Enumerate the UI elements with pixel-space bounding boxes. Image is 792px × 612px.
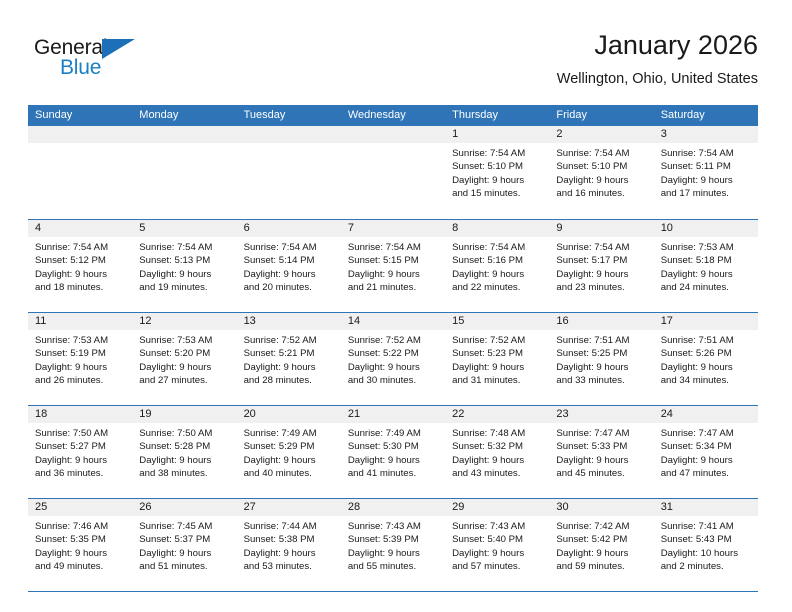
calendar-page: General Blue January 2026 Wellington, Oh… — [0, 0, 792, 612]
day-details: Sunrise: 7:54 AMSunset: 5:17 PMDaylight:… — [549, 237, 653, 295]
sunset-text: Sunset: 5:14 PM — [244, 254, 335, 267]
daylight-text-line1: Daylight: 10 hours — [661, 547, 752, 560]
day-details: Sunrise: 7:49 AMSunset: 5:29 PMDaylight:… — [237, 423, 341, 481]
sunset-text: Sunset: 5:21 PM — [244, 347, 335, 360]
sunset-text: Sunset: 5:16 PM — [452, 254, 543, 267]
sunrise-text: Sunrise: 7:54 AM — [452, 147, 543, 160]
daylight-text-line2: and 21 minutes. — [348, 281, 439, 294]
day-number: 25 — [28, 499, 132, 516]
day-number: 6 — [237, 220, 341, 237]
day-details: Sunrise: 7:54 AMSunset: 5:11 PMDaylight:… — [654, 143, 758, 201]
day-cell[interactable]: 10Sunrise: 7:53 AMSunset: 5:18 PMDayligh… — [654, 220, 758, 312]
day-cell[interactable]: 7Sunrise: 7:54 AMSunset: 5:15 PMDaylight… — [341, 220, 445, 312]
day-details: Sunrise: 7:52 AMSunset: 5:22 PMDaylight:… — [341, 330, 445, 388]
day-number: 23 — [549, 406, 653, 423]
sunset-text: Sunset: 5:43 PM — [661, 533, 752, 546]
day-details: Sunrise: 7:54 AMSunset: 5:15 PMDaylight:… — [341, 237, 445, 295]
day-cell[interactable]: 19Sunrise: 7:50 AMSunset: 5:28 PMDayligh… — [132, 406, 236, 498]
day-number: 26 — [132, 499, 236, 516]
sunset-text: Sunset: 5:19 PM — [35, 347, 126, 360]
day-number: 10 — [654, 220, 758, 237]
day-cell[interactable]: 22Sunrise: 7:48 AMSunset: 5:32 PMDayligh… — [445, 406, 549, 498]
day-cell[interactable]: 4Sunrise: 7:54 AMSunset: 5:12 PMDaylight… — [28, 220, 132, 312]
day-details: Sunrise: 7:45 AMSunset: 5:37 PMDaylight:… — [132, 516, 236, 574]
week-row: 11Sunrise: 7:53 AMSunset: 5:19 PMDayligh… — [28, 312, 758, 405]
sunset-text: Sunset: 5:10 PM — [556, 160, 647, 173]
weekday-header-monday: Monday — [132, 105, 236, 126]
daylight-text-line2: and 59 minutes. — [556, 560, 647, 573]
day-cell[interactable]: 13Sunrise: 7:52 AMSunset: 5:21 PMDayligh… — [237, 313, 341, 405]
sunrise-text: Sunrise: 7:51 AM — [661, 334, 752, 347]
weekday-header-sunday: Sunday — [28, 105, 132, 126]
day-cell[interactable]: 14Sunrise: 7:52 AMSunset: 5:22 PMDayligh… — [341, 313, 445, 405]
daylight-text-line1: Daylight: 9 hours — [348, 268, 439, 281]
day-details: Sunrise: 7:52 AMSunset: 5:23 PMDaylight:… — [445, 330, 549, 388]
daylight-text-line2: and 18 minutes. — [35, 281, 126, 294]
weekday-header-friday: Friday — [549, 105, 653, 126]
day-details: Sunrise: 7:54 AMSunset: 5:10 PMDaylight:… — [549, 143, 653, 201]
day-cell[interactable]: 26Sunrise: 7:45 AMSunset: 5:37 PMDayligh… — [132, 499, 236, 591]
day-number — [28, 126, 132, 143]
weeks-container: 1Sunrise: 7:54 AMSunset: 5:10 PMDaylight… — [28, 126, 758, 591]
sunset-text: Sunset: 5:26 PM — [661, 347, 752, 360]
day-cell[interactable]: 27Sunrise: 7:44 AMSunset: 5:38 PMDayligh… — [237, 499, 341, 591]
daylight-text-line1: Daylight: 9 hours — [452, 454, 543, 467]
daylight-text-line2: and 22 minutes. — [452, 281, 543, 294]
daylight-text-line2: and 43 minutes. — [452, 467, 543, 480]
sunrise-text: Sunrise: 7:42 AM — [556, 520, 647, 533]
day-cell[interactable]: 18Sunrise: 7:50 AMSunset: 5:27 PMDayligh… — [28, 406, 132, 498]
sunset-text: Sunset: 5:23 PM — [452, 347, 543, 360]
day-cell[interactable]: 3Sunrise: 7:54 AMSunset: 5:11 PMDaylight… — [654, 126, 758, 219]
daylight-text-line1: Daylight: 9 hours — [452, 547, 543, 560]
daylight-text-line1: Daylight: 9 hours — [244, 547, 335, 560]
daylight-text-line2: and 36 minutes. — [35, 467, 126, 480]
day-details: Sunrise: 7:54 AMSunset: 5:13 PMDaylight:… — [132, 237, 236, 295]
sunrise-text: Sunrise: 7:47 AM — [556, 427, 647, 440]
day-cell[interactable]: 20Sunrise: 7:49 AMSunset: 5:29 PMDayligh… — [237, 406, 341, 498]
sunrise-text: Sunrise: 7:54 AM — [244, 241, 335, 254]
daylight-text-line2: and 47 minutes. — [661, 467, 752, 480]
sunset-text: Sunset: 5:20 PM — [139, 347, 230, 360]
daylight-text-line1: Daylight: 9 hours — [139, 361, 230, 374]
day-details: Sunrise: 7:51 AMSunset: 5:26 PMDaylight:… — [654, 330, 758, 388]
title-block: January 2026 Wellington, Ohio, United St… — [557, 28, 758, 90]
daylight-text-line2: and 57 minutes. — [452, 560, 543, 573]
page-title: January 2026 — [557, 28, 758, 62]
weekday-header-row: Sunday Monday Tuesday Wednesday Thursday… — [28, 105, 758, 126]
sunrise-text: Sunrise: 7:52 AM — [452, 334, 543, 347]
grid-bottom-rule — [28, 591, 758, 592]
sunrise-text: Sunrise: 7:49 AM — [348, 427, 439, 440]
sunrise-text: Sunrise: 7:53 AM — [35, 334, 126, 347]
day-number: 18 — [28, 406, 132, 423]
day-details: Sunrise: 7:43 AMSunset: 5:40 PMDaylight:… — [445, 516, 549, 574]
sunrise-text: Sunrise: 7:43 AM — [348, 520, 439, 533]
sunrise-text: Sunrise: 7:50 AM — [35, 427, 126, 440]
triangle-icon — [102, 39, 135, 59]
general-blue-logo[interactable]: General Blue — [34, 36, 164, 88]
daylight-text-line2: and 19 minutes. — [139, 281, 230, 294]
day-number: 28 — [341, 499, 445, 516]
day-cell-empty — [237, 126, 341, 219]
day-details: Sunrise: 7:43 AMSunset: 5:39 PMDaylight:… — [341, 516, 445, 574]
day-cell[interactable]: 2Sunrise: 7:54 AMSunset: 5:10 PMDaylight… — [549, 126, 653, 219]
day-number: 24 — [654, 406, 758, 423]
daylight-text-line1: Daylight: 9 hours — [139, 547, 230, 560]
day-number: 14 — [341, 313, 445, 330]
sunset-text: Sunset: 5:10 PM — [452, 160, 543, 173]
day-details: Sunrise: 7:53 AMSunset: 5:19 PMDaylight:… — [28, 330, 132, 388]
sunset-text: Sunset: 5:42 PM — [556, 533, 647, 546]
daylight-text-line2: and 33 minutes. — [556, 374, 647, 387]
day-number: 30 — [549, 499, 653, 516]
day-details: Sunrise: 7:54 AMSunset: 5:12 PMDaylight:… — [28, 237, 132, 295]
day-number — [341, 126, 445, 143]
sunset-text: Sunset: 5:12 PM — [35, 254, 126, 267]
day-number: 12 — [132, 313, 236, 330]
sunrise-text: Sunrise: 7:46 AM — [35, 520, 126, 533]
day-cell[interactable]: 28Sunrise: 7:43 AMSunset: 5:39 PMDayligh… — [341, 499, 445, 591]
week-row: 25Sunrise: 7:46 AMSunset: 5:35 PMDayligh… — [28, 498, 758, 591]
day-cell[interactable]: 15Sunrise: 7:52 AMSunset: 5:23 PMDayligh… — [445, 313, 549, 405]
day-cell-empty — [341, 126, 445, 219]
daylight-text-line1: Daylight: 9 hours — [244, 268, 335, 281]
day-details: Sunrise: 7:42 AMSunset: 5:42 PMDaylight:… — [549, 516, 653, 574]
day-number: 11 — [28, 313, 132, 330]
daylight-text-line1: Daylight: 9 hours — [661, 454, 752, 467]
sunrise-text: Sunrise: 7:54 AM — [452, 241, 543, 254]
sunrise-text: Sunrise: 7:54 AM — [556, 147, 647, 160]
sunrise-text: Sunrise: 7:44 AM — [244, 520, 335, 533]
sunrise-text: Sunrise: 7:53 AM — [139, 334, 230, 347]
sunrise-text: Sunrise: 7:45 AM — [139, 520, 230, 533]
sunset-text: Sunset: 5:34 PM — [661, 440, 752, 453]
day-details: Sunrise: 7:47 AMSunset: 5:33 PMDaylight:… — [549, 423, 653, 481]
daylight-text-line1: Daylight: 9 hours — [139, 268, 230, 281]
day-details: Sunrise: 7:51 AMSunset: 5:25 PMDaylight:… — [549, 330, 653, 388]
day-number: 5 — [132, 220, 236, 237]
sunset-text: Sunset: 5:33 PM — [556, 440, 647, 453]
sunrise-text: Sunrise: 7:54 AM — [35, 241, 126, 254]
sunset-text: Sunset: 5:25 PM — [556, 347, 647, 360]
day-cell[interactable]: 16Sunrise: 7:51 AMSunset: 5:25 PMDayligh… — [549, 313, 653, 405]
day-number: 20 — [237, 406, 341, 423]
daylight-text-line1: Daylight: 9 hours — [556, 454, 647, 467]
day-number: 1 — [445, 126, 549, 143]
sunset-text: Sunset: 5:17 PM — [556, 254, 647, 267]
day-details: Sunrise: 7:54 AMSunset: 5:16 PMDaylight:… — [445, 237, 549, 295]
daylight-text-line1: Daylight: 9 hours — [348, 547, 439, 560]
weekday-header-tuesday: Tuesday — [237, 105, 341, 126]
sunset-text: Sunset: 5:38 PM — [244, 533, 335, 546]
day-number — [237, 126, 341, 143]
day-cell[interactable]: 11Sunrise: 7:53 AMSunset: 5:19 PMDayligh… — [28, 313, 132, 405]
sunrise-text: Sunrise: 7:49 AM — [244, 427, 335, 440]
daylight-text-line1: Daylight: 9 hours — [661, 361, 752, 374]
day-details: Sunrise: 7:49 AMSunset: 5:30 PMDaylight:… — [341, 423, 445, 481]
daylight-text-line2: and 20 minutes. — [244, 281, 335, 294]
day-cell[interactable]: 9Sunrise: 7:54 AMSunset: 5:17 PMDaylight… — [549, 220, 653, 312]
day-number: 17 — [654, 313, 758, 330]
daylight-text-line2: and 55 minutes. — [348, 560, 439, 573]
sunset-text: Sunset: 5:37 PM — [139, 533, 230, 546]
daylight-text-line2: and 28 minutes. — [244, 374, 335, 387]
sunrise-text: Sunrise: 7:54 AM — [348, 241, 439, 254]
daylight-text-line1: Daylight: 9 hours — [556, 361, 647, 374]
sunset-text: Sunset: 5:32 PM — [452, 440, 543, 453]
daylight-text-line2: and 34 minutes. — [661, 374, 752, 387]
sunrise-text: Sunrise: 7:41 AM — [661, 520, 752, 533]
daylight-text-line1: Daylight: 9 hours — [244, 454, 335, 467]
weekday-header-wednesday: Wednesday — [341, 105, 445, 126]
daylight-text-line1: Daylight: 9 hours — [35, 547, 126, 560]
page-subtitle: Wellington, Ohio, United States — [557, 68, 758, 90]
sunset-text: Sunset: 5:15 PM — [348, 254, 439, 267]
sunrise-text: Sunrise: 7:50 AM — [139, 427, 230, 440]
daylight-text-line1: Daylight: 9 hours — [348, 361, 439, 374]
day-details: Sunrise: 7:54 AMSunset: 5:10 PMDaylight:… — [445, 143, 549, 201]
sunset-text: Sunset: 5:35 PM — [35, 533, 126, 546]
sunrise-text: Sunrise: 7:54 AM — [556, 241, 647, 254]
weekday-header-thursday: Thursday — [445, 105, 549, 126]
daylight-text-line1: Daylight: 9 hours — [556, 174, 647, 187]
daylight-text-line2: and 38 minutes. — [139, 467, 230, 480]
daylight-text-line2: and 2 minutes. — [661, 560, 752, 573]
daylight-text-line2: and 53 minutes. — [244, 560, 335, 573]
daylight-text-line2: and 31 minutes. — [452, 374, 543, 387]
daylight-text-line2: and 30 minutes. — [348, 374, 439, 387]
daylight-text-line2: and 27 minutes. — [139, 374, 230, 387]
page-header: General Blue January 2026 Wellington, Oh… — [28, 28, 758, 98]
day-cell[interactable]: 21Sunrise: 7:49 AMSunset: 5:30 PMDayligh… — [341, 406, 445, 498]
sunset-text: Sunset: 5:29 PM — [244, 440, 335, 453]
day-details: Sunrise: 7:48 AMSunset: 5:32 PMDaylight:… — [445, 423, 549, 481]
day-number: 4 — [28, 220, 132, 237]
daylight-text-line2: and 17 minutes. — [661, 187, 752, 200]
sunrise-text: Sunrise: 7:54 AM — [139, 241, 230, 254]
sunset-text: Sunset: 5:22 PM — [348, 347, 439, 360]
sunrise-text: Sunrise: 7:48 AM — [452, 427, 543, 440]
sunrise-text: Sunrise: 7:47 AM — [661, 427, 752, 440]
day-number: 21 — [341, 406, 445, 423]
week-row: 4Sunrise: 7:54 AMSunset: 5:12 PMDaylight… — [28, 219, 758, 312]
week-row: 1Sunrise: 7:54 AMSunset: 5:10 PMDaylight… — [28, 126, 758, 219]
sunset-text: Sunset: 5:28 PM — [139, 440, 230, 453]
day-cell[interactable]: 17Sunrise: 7:51 AMSunset: 5:26 PMDayligh… — [654, 313, 758, 405]
day-number — [132, 126, 236, 143]
day-cell[interactable]: 6Sunrise: 7:54 AMSunset: 5:14 PMDaylight… — [237, 220, 341, 312]
daylight-text-line1: Daylight: 9 hours — [661, 174, 752, 187]
day-cell[interactable]: 23Sunrise: 7:47 AMSunset: 5:33 PMDayligh… — [549, 406, 653, 498]
sunset-text: Sunset: 5:18 PM — [661, 254, 752, 267]
daylight-text-line2: and 24 minutes. — [661, 281, 752, 294]
day-number: 3 — [654, 126, 758, 143]
sunset-text: Sunset: 5:39 PM — [348, 533, 439, 546]
sunrise-text: Sunrise: 7:52 AM — [244, 334, 335, 347]
sunset-text: Sunset: 5:13 PM — [139, 254, 230, 267]
day-cell[interactable]: 5Sunrise: 7:54 AMSunset: 5:13 PMDaylight… — [132, 220, 236, 312]
day-number: 7 — [341, 220, 445, 237]
day-details: Sunrise: 7:46 AMSunset: 5:35 PMDaylight:… — [28, 516, 132, 574]
day-number: 31 — [654, 499, 758, 516]
calendar-grid: Sunday Monday Tuesday Wednesday Thursday… — [28, 105, 758, 592]
day-number: 22 — [445, 406, 549, 423]
day-cell[interactable]: 1Sunrise: 7:54 AMSunset: 5:10 PMDaylight… — [445, 126, 549, 219]
day-cell[interactable]: 8Sunrise: 7:54 AMSunset: 5:16 PMDaylight… — [445, 220, 549, 312]
daylight-text-line1: Daylight: 9 hours — [139, 454, 230, 467]
day-details: Sunrise: 7:41 AMSunset: 5:43 PMDaylight:… — [654, 516, 758, 574]
day-cell[interactable]: 12Sunrise: 7:53 AMSunset: 5:20 PMDayligh… — [132, 313, 236, 405]
daylight-text-line1: Daylight: 9 hours — [661, 268, 752, 281]
day-number: 2 — [549, 126, 653, 143]
day-cell[interactable]: 29Sunrise: 7:43 AMSunset: 5:40 PMDayligh… — [445, 499, 549, 591]
daylight-text-line2: and 51 minutes. — [139, 560, 230, 573]
day-number: 16 — [549, 313, 653, 330]
logo-text-blue: Blue — [60, 56, 101, 80]
sunset-text: Sunset: 5:11 PM — [661, 160, 752, 173]
sunrise-text: Sunrise: 7:51 AM — [556, 334, 647, 347]
day-cell-empty — [132, 126, 236, 219]
day-number: 13 — [237, 313, 341, 330]
day-cell[interactable]: 24Sunrise: 7:47 AMSunset: 5:34 PMDayligh… — [654, 406, 758, 498]
daylight-text-line1: Daylight: 9 hours — [244, 361, 335, 374]
day-number: 9 — [549, 220, 653, 237]
daylight-text-line2: and 26 minutes. — [35, 374, 126, 387]
day-number: 15 — [445, 313, 549, 330]
day-cell[interactable]: 31Sunrise: 7:41 AMSunset: 5:43 PMDayligh… — [654, 499, 758, 591]
sunset-text: Sunset: 5:40 PM — [452, 533, 543, 546]
daylight-text-line2: and 45 minutes. — [556, 467, 647, 480]
daylight-text-line1: Daylight: 9 hours — [556, 547, 647, 560]
daylight-text-line1: Daylight: 9 hours — [452, 268, 543, 281]
daylight-text-line2: and 49 minutes. — [35, 560, 126, 573]
daylight-text-line1: Daylight: 9 hours — [35, 268, 126, 281]
weekday-header-saturday: Saturday — [654, 105, 758, 126]
sunset-text: Sunset: 5:27 PM — [35, 440, 126, 453]
daylight-text-line1: Daylight: 9 hours — [348, 454, 439, 467]
sunrise-text: Sunrise: 7:52 AM — [348, 334, 439, 347]
day-number: 19 — [132, 406, 236, 423]
day-details: Sunrise: 7:47 AMSunset: 5:34 PMDaylight:… — [654, 423, 758, 481]
day-details: Sunrise: 7:52 AMSunset: 5:21 PMDaylight:… — [237, 330, 341, 388]
daylight-text-line1: Daylight: 9 hours — [35, 361, 126, 374]
day-details: Sunrise: 7:44 AMSunset: 5:38 PMDaylight:… — [237, 516, 341, 574]
sunrise-text: Sunrise: 7:43 AM — [452, 520, 543, 533]
daylight-text-line2: and 16 minutes. — [556, 187, 647, 200]
sunrise-text: Sunrise: 7:53 AM — [661, 241, 752, 254]
day-number: 29 — [445, 499, 549, 516]
day-details: Sunrise: 7:50 AMSunset: 5:27 PMDaylight:… — [28, 423, 132, 481]
daylight-text-line2: and 23 minutes. — [556, 281, 647, 294]
daylight-text-line2: and 41 minutes. — [348, 467, 439, 480]
week-row: 18Sunrise: 7:50 AMSunset: 5:27 PMDayligh… — [28, 405, 758, 498]
day-cell-empty — [28, 126, 132, 219]
day-details: Sunrise: 7:50 AMSunset: 5:28 PMDaylight:… — [132, 423, 236, 481]
day-cell[interactable]: 30Sunrise: 7:42 AMSunset: 5:42 PMDayligh… — [549, 499, 653, 591]
day-cell[interactable]: 25Sunrise: 7:46 AMSunset: 5:35 PMDayligh… — [28, 499, 132, 591]
day-number: 27 — [237, 499, 341, 516]
daylight-text-line1: Daylight: 9 hours — [35, 454, 126, 467]
daylight-text-line2: and 40 minutes. — [244, 467, 335, 480]
sunset-text: Sunset: 5:30 PM — [348, 440, 439, 453]
daylight-text-line2: and 15 minutes. — [452, 187, 543, 200]
day-details: Sunrise: 7:53 AMSunset: 5:20 PMDaylight:… — [132, 330, 236, 388]
sunrise-text: Sunrise: 7:54 AM — [661, 147, 752, 160]
daylight-text-line1: Daylight: 9 hours — [556, 268, 647, 281]
day-number: 8 — [445, 220, 549, 237]
day-details: Sunrise: 7:53 AMSunset: 5:18 PMDaylight:… — [654, 237, 758, 295]
day-details: Sunrise: 7:54 AMSunset: 5:14 PMDaylight:… — [237, 237, 341, 295]
daylight-text-line1: Daylight: 9 hours — [452, 361, 543, 374]
daylight-text-line1: Daylight: 9 hours — [452, 174, 543, 187]
